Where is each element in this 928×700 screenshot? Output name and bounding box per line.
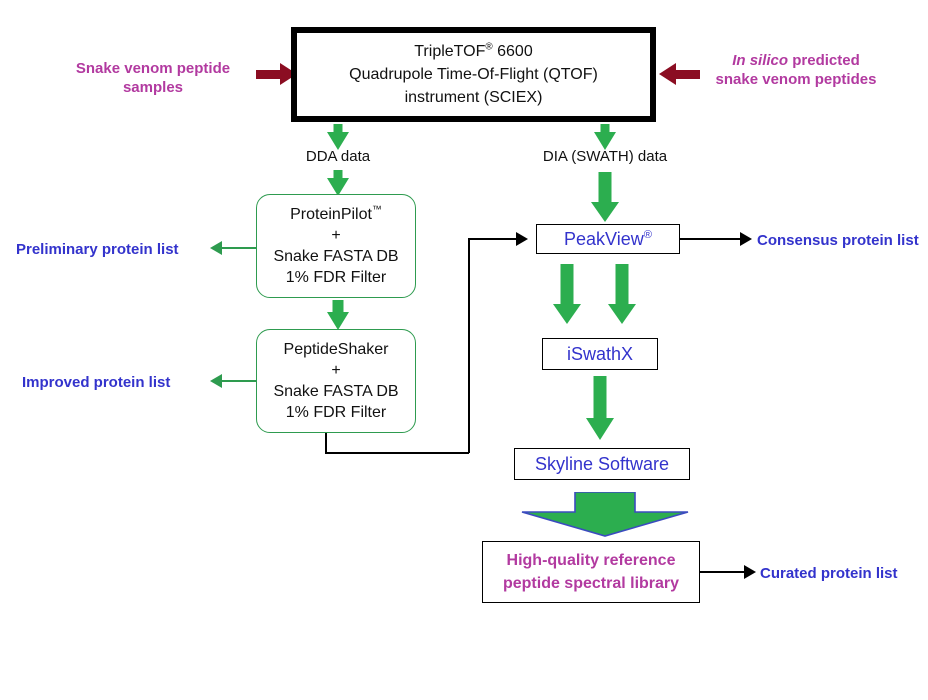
workflow-diagram: Snake venom peptide samples In silico pr… (0, 0, 928, 700)
peptideshaker-line1: PeptideShaker (273, 339, 398, 360)
registered-icon: ® (485, 41, 492, 52)
connector-improved (222, 380, 256, 382)
library-line1: High-quality reference (503, 549, 679, 572)
output-consensus-label: Consensus protein list (757, 232, 928, 251)
arrow-head-curated (744, 565, 756, 579)
arrow-proteinpilot-to-peptideshaker (325, 300, 351, 330)
arrow-peakview-to-iswathx-left (553, 264, 581, 326)
arrow-shaft-left-input (256, 70, 280, 79)
input-right-line1: In silico predicted (690, 52, 902, 71)
arrow-peakview-to-iswathx-right (608, 264, 636, 326)
instrument-line2: Quadrupole Time-Of-Flight (QTOF) (349, 63, 598, 86)
proteinpilot-box: ProteinPilot™ + Snake FASTA DB 1% FDR Fi… (256, 194, 416, 298)
input-right-italic: In silico (732, 52, 788, 69)
label-dda-data: DDA data (278, 148, 398, 167)
proteinpilot-name: ProteinPilot (290, 206, 372, 223)
peakview-label: PeakView® (564, 229, 652, 250)
arrow-iswathx-to-skyline (586, 376, 614, 442)
proteinpilot-line1: ProteinPilot™ (273, 204, 398, 225)
connector-shaker-right (325, 452, 469, 454)
instrument-name: TripleTOF (414, 43, 485, 60)
proteinpilot-line2: + (273, 225, 398, 246)
iswathx-label: iSwathX (567, 344, 633, 365)
input-left-line2: samples (58, 79, 248, 98)
output-improved-label: Improved protein list (22, 374, 202, 393)
connector-shaker-up (468, 238, 470, 453)
arrow-head-peakview-input (516, 232, 528, 246)
input-right-rest: predicted (788, 52, 860, 69)
block-arrow-skyline-to-library (520, 492, 690, 537)
peptideshaker-box: PeptideShaker + Snake FASTA DB 1% FDR Fi… (256, 329, 416, 433)
proteinpilot-line3: Snake FASTA DB (273, 246, 398, 267)
connector-curated (700, 571, 748, 573)
input-label-left: Snake venom peptide samples (58, 60, 248, 98)
instrument-box: TripleTOF® 6600 Quadrupole Time-Of-Fligh… (291, 27, 656, 122)
arrow-dda-bottom (327, 170, 349, 194)
peakview-name: PeakView (564, 229, 644, 249)
arrow-head-right-input (659, 63, 676, 85)
input-left-line1: Snake venom peptide (58, 60, 248, 79)
input-label-right: In silico predicted snake venom peptides (690, 52, 902, 90)
arrow-dia-top (594, 124, 616, 148)
peptideshaker-line3: Snake FASTA DB (273, 381, 398, 402)
connector-preliminary (222, 247, 256, 249)
arrow-dia-bottom (591, 172, 619, 222)
instrument-line1: TripleTOF® 6600 (349, 40, 598, 63)
connector-shaker-down (325, 433, 327, 453)
peakview-box: PeakView® (536, 224, 680, 254)
instrument-line3: instrument (SCIEX) (349, 86, 598, 109)
arrow-head-consensus (740, 232, 752, 246)
label-dia-data: DIA (SWATH) data (513, 148, 697, 167)
trademark-icon: ™ (372, 204, 382, 215)
proteinpilot-line4: 1% FDR Filter (273, 267, 398, 288)
arrow-head-improved (210, 374, 222, 388)
peptideshaker-line2: + (273, 360, 398, 381)
arrow-dda-top (327, 124, 349, 148)
output-curated-label: Curated protein list (760, 565, 928, 584)
connector-shaker-to-peakview (468, 238, 516, 240)
input-right-line2: snake venom peptides (690, 71, 902, 90)
skyline-box: Skyline Software (514, 448, 690, 480)
library-line2: peptide spectral library (503, 572, 679, 595)
output-preliminary-label: Preliminary protein list (16, 241, 202, 260)
iswathx-box: iSwathX (542, 338, 658, 370)
arrow-head-preliminary (210, 241, 222, 255)
peptideshaker-line4: 1% FDR Filter (273, 402, 398, 423)
arrow-shaft-right-input (676, 70, 700, 79)
registered-icon: ® (644, 229, 652, 241)
instrument-model: 6600 (493, 43, 533, 60)
skyline-label: Skyline Software (535, 454, 669, 475)
library-box: High-quality reference peptide spectral … (482, 541, 700, 603)
connector-consensus (680, 238, 740, 240)
